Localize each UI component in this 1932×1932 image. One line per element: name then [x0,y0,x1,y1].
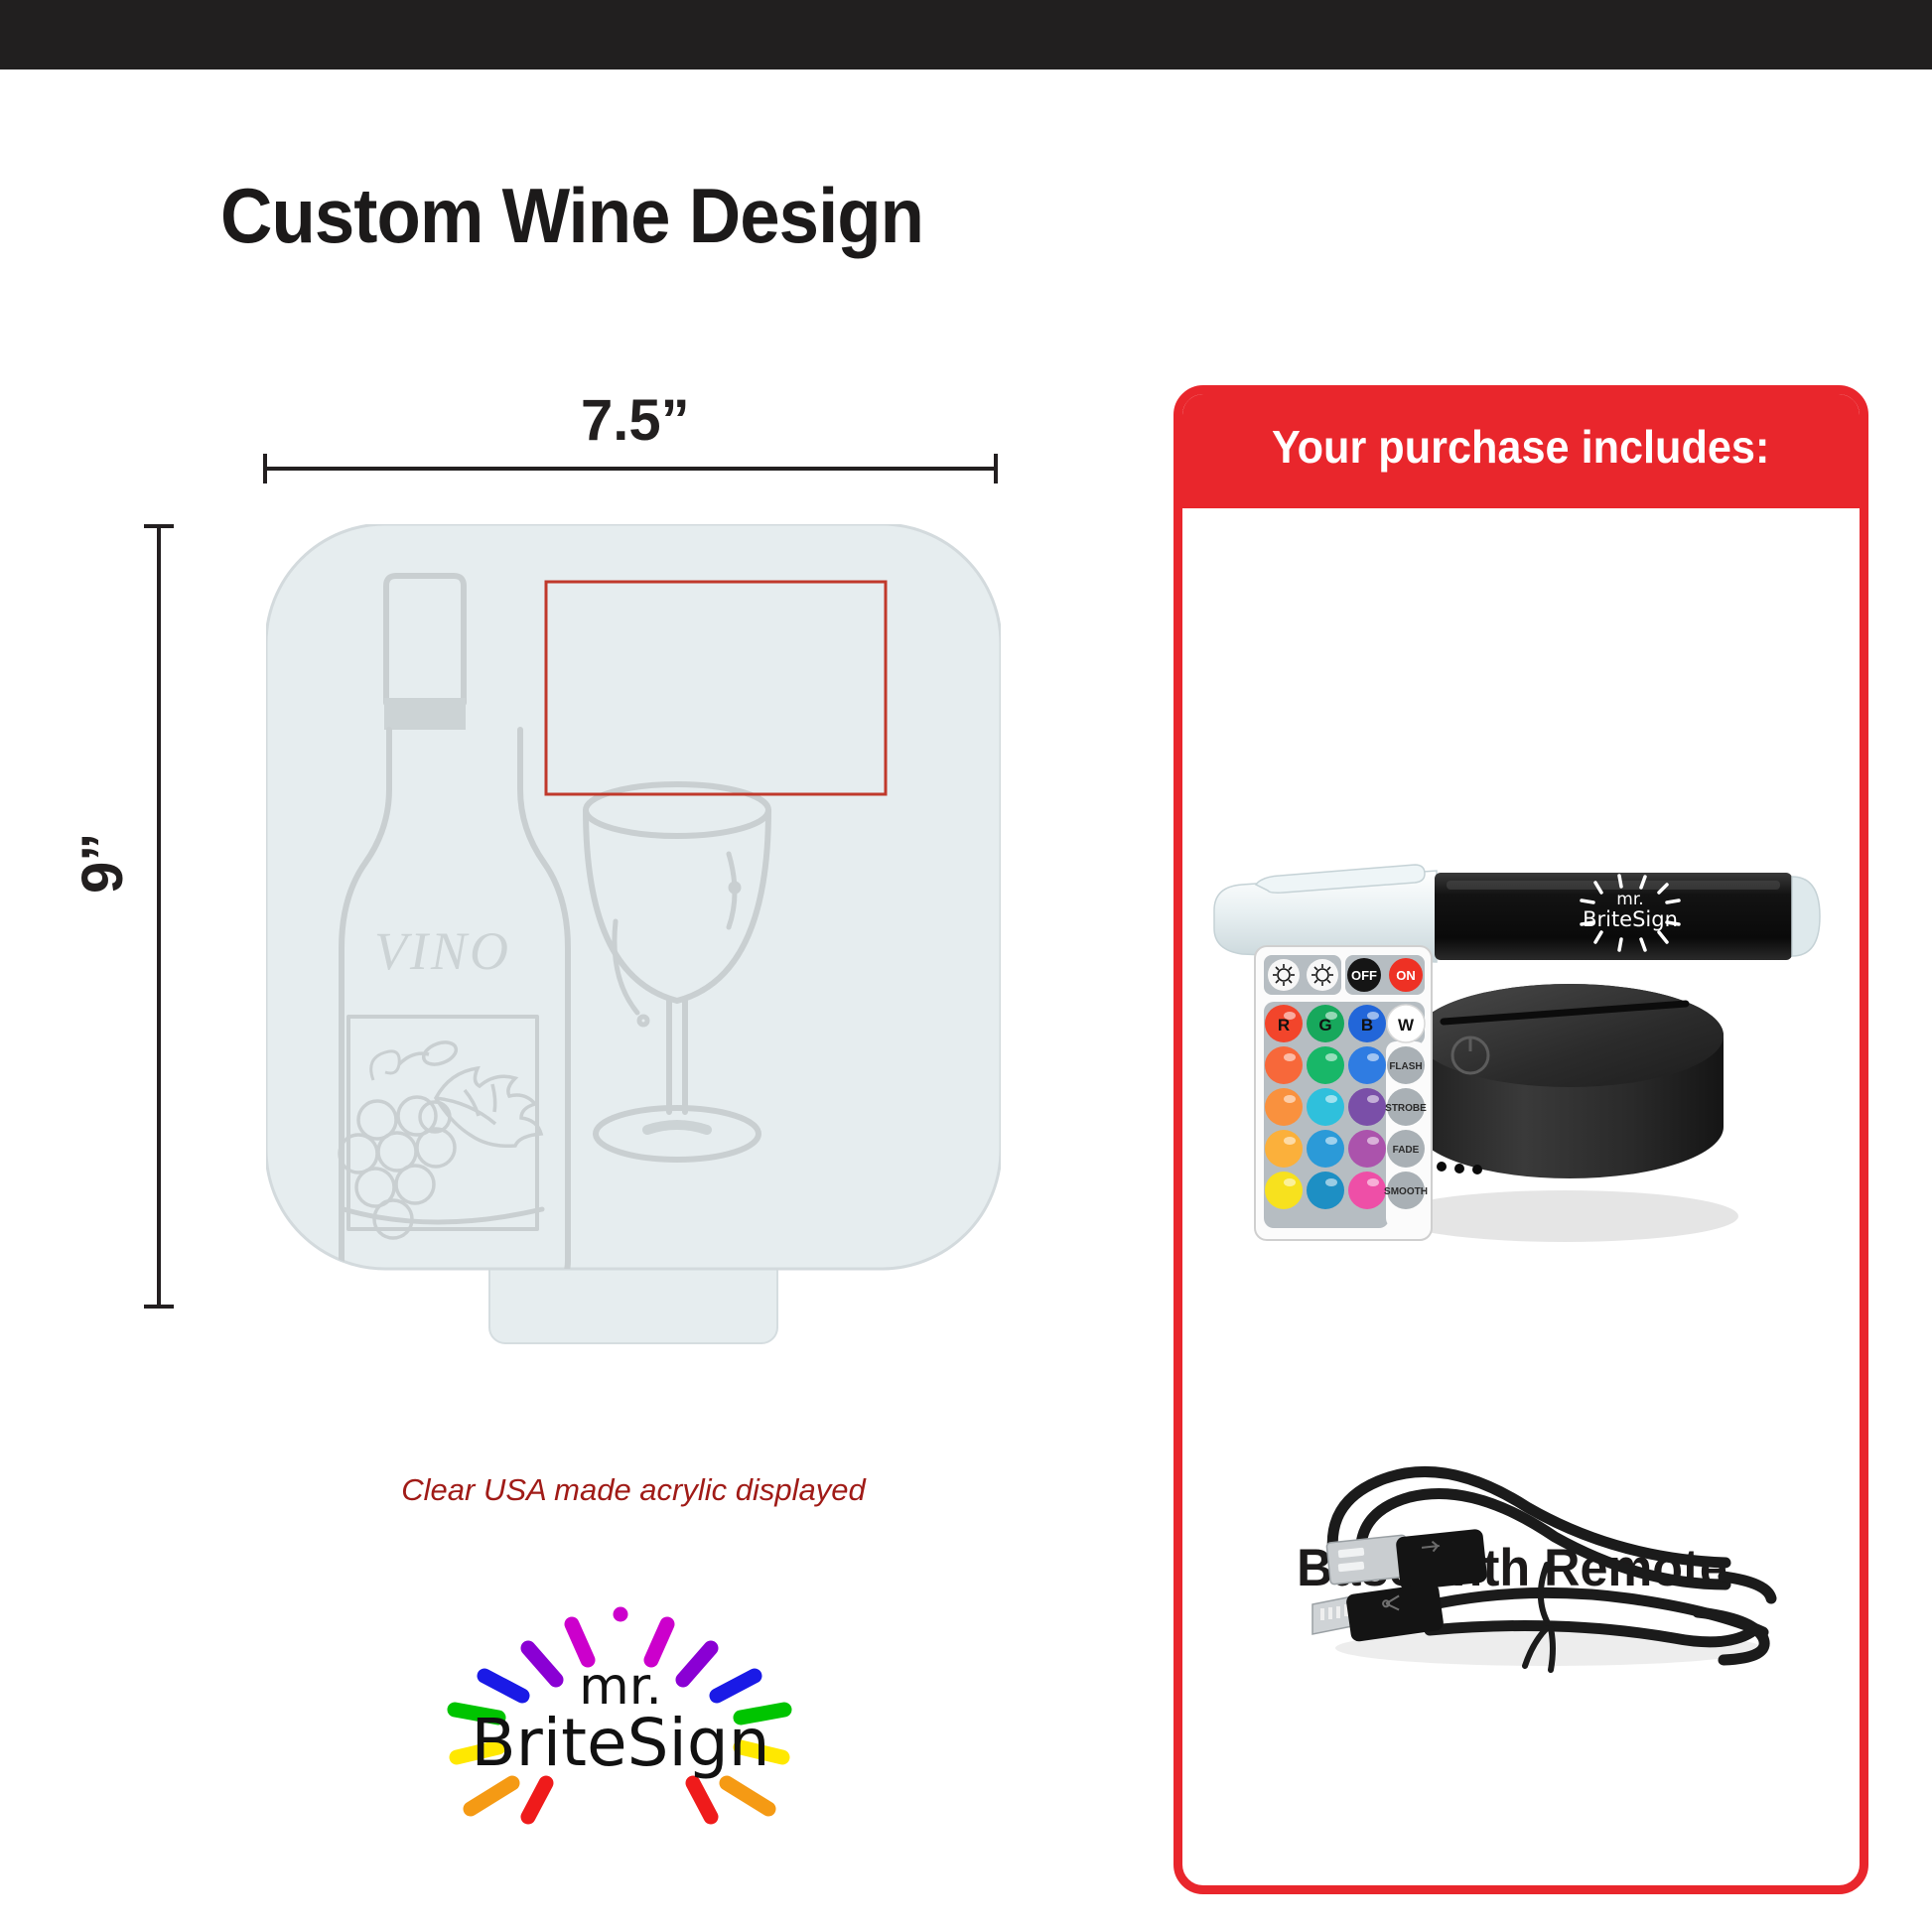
height-dimension-cap-bottom [144,1305,174,1309]
remote-smooth-label: SMOOTH [1384,1186,1428,1197]
base-remote-icon: OFF ON R G B W [1237,918,1753,1281]
acrylic-panel-svg: VINO [266,524,1001,1398]
width-dimension-label: 7.5” [581,387,690,454]
remote-flash-label: FLASH [1389,1061,1422,1072]
height-dimension-line [157,524,161,1309]
purchase-includes-header: Your purchase includes: [1173,385,1868,508]
marker-logo-mr: mr. [1616,890,1643,909]
remote-off-label: OFF [1351,968,1377,983]
remote-on-label: ON [1396,968,1416,983]
remote-control: OFF ON R G B W [1255,946,1432,1240]
width-dimension-cap-right [994,454,998,483]
micro-usb-connector [1312,1583,1445,1643]
usb-cord-illustration [1281,1418,1797,1686]
usb-cord-icon [1281,1418,1797,1691]
width-dimension-cap-left [263,454,267,483]
usb-a-connector [1326,1529,1488,1591]
top-bar [0,0,1932,69]
purchase-includes-header-text: Your purchase includes: [1272,420,1769,474]
remote-w-label: W [1398,1016,1415,1035]
logo-text-britesign: BriteSign [471,1705,769,1781]
brand-logo: mr. BriteSign [417,1606,824,1874]
acrylic-caption: Clear USA made acrylic displayed [266,1472,1001,1508]
brand-logo-svg: mr. BriteSign [417,1606,824,1874]
page-title: Custom Wine Design [220,171,923,261]
item-label-usb-cord: USB Cord [1190,1888,1834,1894]
remote-strobe-label: STROBE [1385,1103,1427,1114]
width-dimension-line [263,467,998,471]
remote-fade-label: FADE [1393,1145,1420,1156]
product-listing-page: Custom Wine Design 7.5” 9” [0,0,1932,1932]
bottle-label-text: VINO [374,921,511,981]
base-remote-illustration: OFF ON R G B W [1237,918,1753,1276]
acrylic-panel-preview: VINO [266,524,1001,1398]
height-dimension-label: 9” [69,833,136,894]
height-dimension-cap-top [144,524,174,528]
